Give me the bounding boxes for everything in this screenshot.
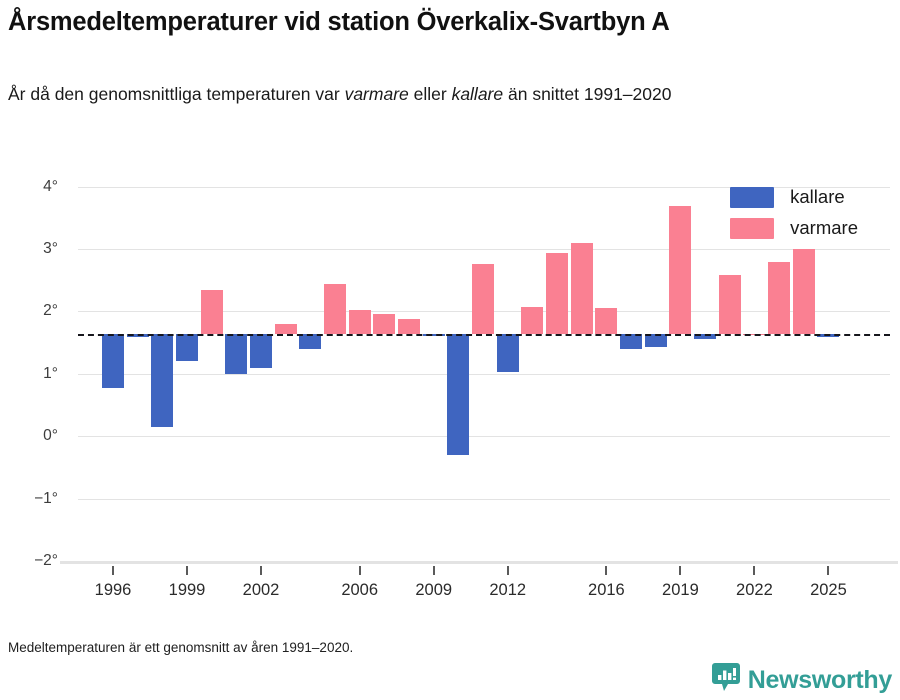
x-axis-line xyxy=(60,561,898,564)
x-tick-label: 2016 xyxy=(571,581,641,600)
bar-2017[interactable] xyxy=(620,334,642,348)
legend-item-varmare[interactable]: varmare xyxy=(730,217,858,239)
y-tick-label: −1° xyxy=(10,490,58,508)
x-tick xyxy=(507,566,509,575)
x-tick xyxy=(753,566,755,575)
bar-2000[interactable] xyxy=(201,290,223,334)
newsworthy-bar-chart-pin-icon xyxy=(711,662,741,698)
legend-swatch-varmare xyxy=(730,218,774,239)
y-tick-label: 0° xyxy=(10,427,58,445)
chart-legend: kallare varmare xyxy=(730,186,858,239)
x-tick-label: 1996 xyxy=(78,581,148,600)
bar-2014[interactable] xyxy=(546,253,568,335)
bar-2015[interactable] xyxy=(571,243,593,334)
newsworthy-wordmark: Newsworthy xyxy=(748,666,892,695)
x-tick xyxy=(112,566,114,575)
bar-2007[interactable] xyxy=(373,314,395,334)
gridline xyxy=(78,249,890,250)
gridline xyxy=(78,374,890,375)
bar-2003[interactable] xyxy=(275,324,297,335)
bar-2008[interactable] xyxy=(398,319,420,334)
bar-2002[interactable] xyxy=(250,334,272,368)
bar-2011[interactable] xyxy=(472,264,494,335)
bar-1998[interactable] xyxy=(151,334,173,427)
legend-label-varmare: varmare xyxy=(790,217,858,239)
x-tick xyxy=(186,566,188,575)
x-tick-label: 2012 xyxy=(473,581,543,600)
x-tick-label: 2006 xyxy=(325,581,395,600)
bar-2024[interactable] xyxy=(793,249,815,334)
bar-2005[interactable] xyxy=(324,284,346,335)
x-tick-label: 2025 xyxy=(793,581,863,600)
legend-item-kallare[interactable]: kallare xyxy=(730,186,858,208)
bar-1999[interactable] xyxy=(176,334,198,360)
gridline xyxy=(78,499,890,500)
bar-2021[interactable] xyxy=(719,275,741,334)
newsworthy-logo[interactable]: Newsworthy xyxy=(711,662,892,698)
legend-label-kallare: kallare xyxy=(790,186,845,208)
x-tick-label: 2022 xyxy=(719,581,789,600)
bar-2004[interactable] xyxy=(299,334,321,348)
bar-2012[interactable] xyxy=(497,334,519,372)
bar-2023[interactable] xyxy=(768,262,790,334)
bar-2016[interactable] xyxy=(595,308,617,334)
x-tick-label: 1999 xyxy=(152,581,222,600)
bar-1996[interactable] xyxy=(102,334,124,388)
bar-2001[interactable] xyxy=(225,334,247,374)
plot-area: 4°3°2°1°0°−1°−2° 19961999200220062009201… xyxy=(0,0,900,700)
bar-2013[interactable] xyxy=(521,307,543,334)
legend-swatch-kallare xyxy=(730,187,774,208)
x-tick xyxy=(827,566,829,575)
x-tick xyxy=(679,566,681,575)
y-tick-label: −2° xyxy=(10,552,58,570)
footnote: Medeltemperaturen är ett genomsnitt av å… xyxy=(8,640,353,655)
x-tick-label: 2002 xyxy=(226,581,296,600)
bar-2010[interactable] xyxy=(447,334,469,454)
x-tick-label: 2009 xyxy=(399,581,469,600)
bar-2006[interactable] xyxy=(349,310,371,334)
y-tick-label: 1° xyxy=(10,365,58,383)
average-baseline xyxy=(78,334,890,336)
x-tick xyxy=(359,566,361,575)
bar-2019[interactable] xyxy=(669,206,691,334)
x-tick xyxy=(260,566,262,575)
chart-page: Årsmedeltemperaturer vid station Överkal… xyxy=(0,0,900,700)
x-tick xyxy=(433,566,435,575)
x-tick-label: 2019 xyxy=(645,581,715,600)
y-tick-label: 4° xyxy=(10,178,58,196)
y-tick-label: 2° xyxy=(10,302,58,320)
x-tick xyxy=(605,566,607,575)
y-tick-label: 3° xyxy=(10,240,58,258)
gridline xyxy=(78,436,890,437)
